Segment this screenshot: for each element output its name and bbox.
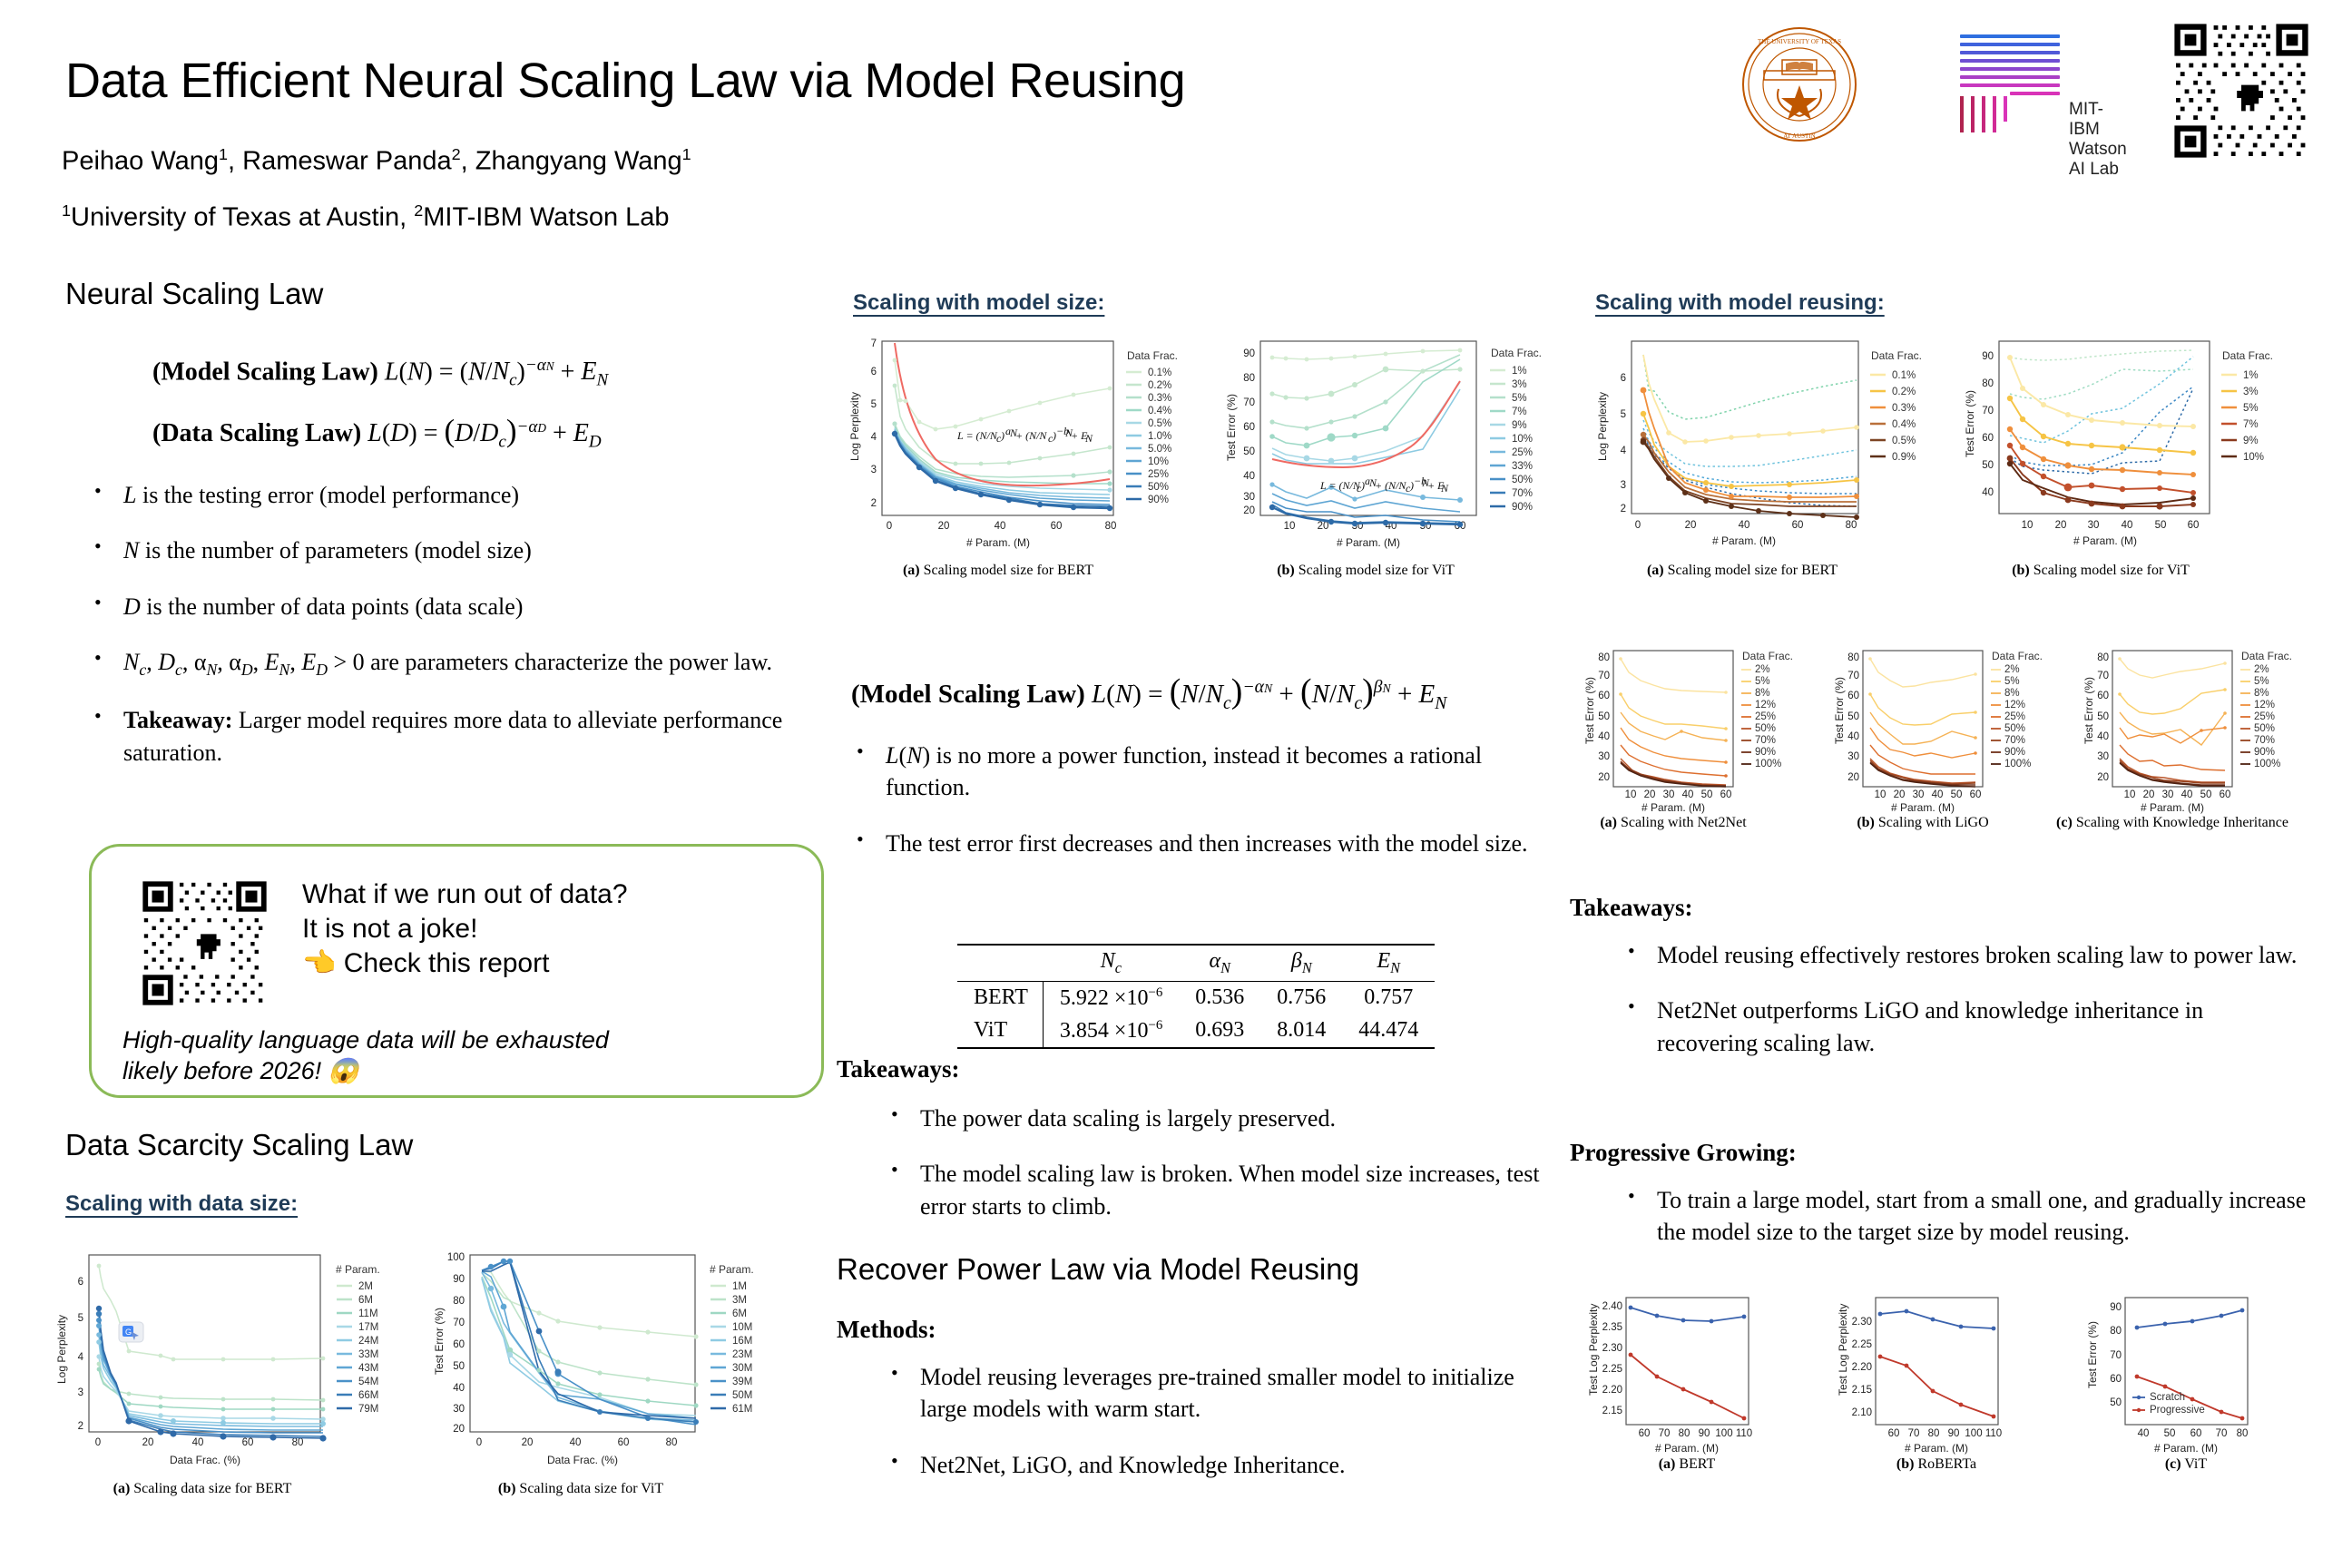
svg-text:50: 50 bbox=[453, 1361, 465, 1372]
table-cell: 3.854 ×10−6 bbox=[1043, 1014, 1179, 1048]
svg-text:8%: 8% bbox=[1755, 688, 1770, 699]
svg-text:Test Error (%): Test Error (%) bbox=[1833, 677, 1846, 744]
takeaway-label: Takeaway: bbox=[123, 707, 232, 733]
svg-text:# Param. (M): # Param. (M) bbox=[2154, 1442, 2218, 1455]
list-item: N is the number of parameters (model siz… bbox=[82, 534, 808, 566]
svg-text:30: 30 bbox=[1663, 789, 1675, 800]
middle-bullet-list: L(N) is no more a power function, instea… bbox=[844, 740, 1561, 883]
ut-austin-logo: THE UNIVERSITY OF TEXAS AT AUSTIN bbox=[1724, 25, 1875, 143]
callout-line-2: It is not a joke! bbox=[302, 912, 628, 946]
list-item: Net2Net, LiGO, and Knowledge Inheritance… bbox=[878, 1449, 1550, 1481]
svg-text:2.15: 2.15 bbox=[1852, 1385, 1872, 1396]
svg-text:12%: 12% bbox=[2254, 700, 2275, 710]
svg-text:60: 60 bbox=[2097, 691, 2109, 701]
svg-text:17M: 17M bbox=[358, 1322, 378, 1333]
svg-text:+ (N/N: + (N/N bbox=[1375, 479, 1406, 492]
svg-text:10: 10 bbox=[1625, 789, 1637, 800]
svg-text:Data Frac. (%): Data Frac. (%) bbox=[547, 1454, 618, 1466]
figure-caption: (a) Scaling data size for BERT bbox=[53, 1481, 352, 1497]
svg-text:(a) Scaling with Net2Net: (a) Scaling with Net2Net bbox=[1600, 815, 1747, 830]
svg-text:50%: 50% bbox=[2004, 723, 2025, 734]
svg-text:90%: 90% bbox=[1148, 495, 1169, 505]
mit-ibm-line3: AI Lab bbox=[2069, 160, 2132, 180]
svg-text:80: 80 bbox=[2237, 1428, 2249, 1439]
svg-text:50: 50 bbox=[1701, 789, 1713, 800]
svg-text:90: 90 bbox=[1982, 351, 1994, 362]
svg-text:3%: 3% bbox=[2243, 387, 2259, 397]
right-takeaways-list: Model reusing effectively restores broke… bbox=[1615, 939, 2305, 1083]
svg-text:G: G bbox=[125, 1328, 132, 1337]
svg-text:90: 90 bbox=[1948, 1428, 1960, 1439]
svg-text:# Param. (M): # Param. (M) bbox=[2141, 801, 2204, 814]
table-col-header: αN bbox=[1179, 945, 1260, 981]
list-item: Model reusing leverages pre-trained smal… bbox=[878, 1361, 1550, 1426]
svg-text:3: 3 bbox=[78, 1387, 83, 1398]
svg-text:80: 80 bbox=[1679, 1428, 1690, 1439]
svg-text:0.1%: 0.1% bbox=[1892, 370, 1916, 381]
svg-text:0: 0 bbox=[887, 521, 892, 532]
svg-text:50: 50 bbox=[2200, 789, 2212, 800]
figure-reuse-vit: Test Error (%) 9080 7060 5040 1020 3040 … bbox=[1955, 334, 2309, 579]
svg-text:50: 50 bbox=[2097, 711, 2109, 722]
svg-text:60: 60 bbox=[453, 1339, 465, 1350]
mit-ibm-vbars-icon bbox=[1960, 96, 2064, 134]
svg-text:70: 70 bbox=[2110, 1350, 2122, 1361]
svg-text:11M: 11M bbox=[358, 1308, 378, 1319]
svg-text:# Param. (M): # Param. (M) bbox=[1337, 536, 1400, 549]
svg-text:+ (N/N: + (N/N bbox=[1015, 429, 1047, 442]
svg-text:23M: 23M bbox=[732, 1349, 752, 1360]
selection-artifact: G bbox=[119, 1322, 143, 1342]
table-cell: ViT bbox=[957, 1014, 1043, 1048]
equation-data-scaling-law: (Data Scaling Law) L(D) = (D/Dc)−αD + ED bbox=[152, 413, 602, 453]
list-item: Nc, Dc, αN, αD, EN, ED > 0 are parameter… bbox=[82, 646, 808, 681]
svg-text:40: 40 bbox=[995, 521, 1006, 532]
svg-text:5%: 5% bbox=[2004, 676, 2020, 687]
progressive-growing-heading: Progressive Growing: bbox=[1570, 1139, 1797, 1167]
mit-ibm-label: MIT-IBM Watson AI Lab bbox=[2069, 100, 2132, 180]
svg-text:Data Frac. (%): Data Frac. (%) bbox=[170, 1454, 240, 1466]
svg-text:N: N bbox=[1440, 482, 1449, 495]
svg-text:70: 70 bbox=[453, 1318, 465, 1328]
svg-text:90%: 90% bbox=[1755, 747, 1776, 758]
svg-text:33%: 33% bbox=[1512, 461, 1533, 472]
svg-text:12%: 12% bbox=[1755, 700, 1776, 710]
table-cell: 8.014 bbox=[1260, 1014, 1342, 1048]
svg-text:30: 30 bbox=[2088, 520, 2100, 531]
svg-text:90: 90 bbox=[2110, 1302, 2122, 1313]
list-item: L(N) is no more a power function, instea… bbox=[844, 740, 1561, 804]
svg-text:2.15: 2.15 bbox=[1602, 1406, 1622, 1416]
section-recover-power-law: Recover Power Law via Model Reusing bbox=[837, 1252, 1359, 1287]
table-col-header: βN bbox=[1260, 945, 1342, 981]
svg-text:6M: 6M bbox=[732, 1308, 747, 1319]
svg-text:80: 80 bbox=[1598, 652, 1610, 663]
svg-text:5%: 5% bbox=[2243, 403, 2259, 414]
svg-text:40: 40 bbox=[570, 1437, 582, 1448]
svg-text:54M: 54M bbox=[358, 1377, 378, 1387]
figure-scaling-data-size-bert: Log Perplexity 65 43 2 020 4060 80 Data … bbox=[53, 1248, 416, 1497]
svg-text:(a) BERT: (a) BERT bbox=[1659, 1456, 1716, 1472]
svg-text:40: 40 bbox=[1682, 789, 1694, 800]
svg-text:33M: 33M bbox=[358, 1349, 378, 1360]
svg-text:100: 100 bbox=[1715, 1428, 1732, 1439]
svg-text:2.20: 2.20 bbox=[1602, 1385, 1622, 1396]
svg-text:30: 30 bbox=[2097, 751, 2109, 762]
svg-text:(c) Scaling with Knowledge Inh: (c) Scaling with Knowledge Inheritance bbox=[2056, 815, 2288, 830]
svg-text:20: 20 bbox=[453, 1424, 465, 1435]
svg-text:0.2%: 0.2% bbox=[1148, 380, 1171, 391]
svg-text:Data Frac.: Data Frac. bbox=[1127, 349, 1178, 362]
svg-text:80: 80 bbox=[1846, 520, 1857, 531]
svg-text:0: 0 bbox=[1635, 520, 1641, 531]
section-data-scarcity-scaling-law: Data Scarcity Scaling Law bbox=[65, 1128, 413, 1162]
svg-text:20: 20 bbox=[1318, 521, 1329, 532]
table-row: ViT 3.854 ×10−6 0.693 8.014 44.474 bbox=[957, 1014, 1435, 1048]
figure-caption: (a) Scaling model size for BERT bbox=[1588, 563, 1896, 579]
svg-text:24M: 24M bbox=[358, 1336, 378, 1347]
svg-text:90: 90 bbox=[453, 1274, 465, 1285]
svg-text:10%: 10% bbox=[1512, 434, 1533, 445]
svg-text:60: 60 bbox=[1970, 789, 1982, 800]
svg-text:20: 20 bbox=[2143, 789, 2155, 800]
svg-text:80: 80 bbox=[1982, 378, 1994, 389]
svg-text:61M: 61M bbox=[732, 1404, 752, 1415]
svg-text:# Param.: # Param. bbox=[336, 1263, 380, 1276]
svg-text:40: 40 bbox=[1982, 487, 1994, 498]
svg-text:80: 80 bbox=[453, 1296, 465, 1307]
progressive-growing-list: To train a large model, start from a sma… bbox=[1615, 1184, 2332, 1272]
svg-text:L = (N/N: L = (N/N bbox=[1319, 479, 1361, 492]
svg-text:90%: 90% bbox=[2004, 747, 2025, 758]
svg-text:6: 6 bbox=[78, 1277, 83, 1288]
table-col-header bbox=[957, 945, 1043, 981]
svg-text:4: 4 bbox=[1621, 446, 1627, 456]
svg-text:AT AUSTIN: AT AUSTIN bbox=[1783, 132, 1815, 140]
svg-text:2.25: 2.25 bbox=[1602, 1364, 1622, 1375]
svg-text:3M: 3M bbox=[732, 1295, 747, 1306]
svg-text:50: 50 bbox=[2155, 520, 2167, 531]
svg-text:1.0%: 1.0% bbox=[1148, 431, 1171, 442]
svg-text:40: 40 bbox=[1598, 731, 1610, 742]
svg-text:25%: 25% bbox=[2254, 711, 2275, 722]
svg-text:Data Frac.: Data Frac. bbox=[1871, 349, 1922, 362]
svg-text:Test Error (%): Test Error (%) bbox=[433, 1308, 446, 1375]
svg-text:20: 20 bbox=[1847, 772, 1859, 783]
svg-text:Test Error (%): Test Error (%) bbox=[1964, 390, 1976, 457]
svg-text:2.30: 2.30 bbox=[1852, 1317, 1872, 1328]
svg-text:2%: 2% bbox=[2004, 664, 2020, 675]
poster-canvas: Data Efficient Neural Scaling Law via Mo… bbox=[0, 0, 2352, 1568]
svg-text:4: 4 bbox=[78, 1352, 84, 1363]
svg-text:39M: 39M bbox=[732, 1377, 752, 1387]
svg-text:0: 0 bbox=[95, 1437, 101, 1448]
table-cell: 5.922 ×10−6 bbox=[1043, 981, 1179, 1014]
callout-line-3: 👈 Check this report bbox=[302, 946, 628, 981]
figure-caption: (a) Scaling model size for BERT bbox=[844, 563, 1152, 579]
svg-text:30: 30 bbox=[2162, 789, 2174, 800]
svg-text:60: 60 bbox=[2220, 789, 2231, 800]
list-item: Net2Net outperforms LiGO and knowledge i… bbox=[1615, 995, 2305, 1059]
figure-row-progressive-growing: Test Log Perplexity 2.402.35 2.302.25 2.… bbox=[1579, 1289, 2341, 1506]
svg-text:5: 5 bbox=[1621, 409, 1626, 420]
svg-text:100: 100 bbox=[447, 1252, 465, 1263]
table-cell: 0.756 bbox=[1260, 981, 1342, 1014]
svg-text:1%: 1% bbox=[1512, 366, 1527, 377]
svg-text:2: 2 bbox=[78, 1421, 83, 1432]
svg-text:2.40: 2.40 bbox=[1602, 1301, 1622, 1312]
table-cell: 44.474 bbox=[1342, 1014, 1435, 1048]
svg-text:0: 0 bbox=[476, 1437, 482, 1448]
svg-text:2.20: 2.20 bbox=[1852, 1362, 1872, 1373]
svg-text:10%: 10% bbox=[1148, 456, 1169, 467]
list-item: L is the testing error (model performanc… bbox=[82, 479, 808, 511]
svg-text:12%: 12% bbox=[2004, 700, 2025, 710]
svg-text:7: 7 bbox=[871, 338, 877, 349]
svg-text:3%: 3% bbox=[1512, 379, 1527, 390]
svg-text:100%: 100% bbox=[2004, 759, 2031, 769]
svg-text:0.5%: 0.5% bbox=[1148, 418, 1171, 429]
svg-text:# Param. (M): # Param. (M) bbox=[1905, 1442, 1968, 1455]
svg-text:3: 3 bbox=[1621, 480, 1626, 491]
svg-text:Progressive: Progressive bbox=[2150, 1405, 2205, 1416]
svg-text:2: 2 bbox=[871, 498, 877, 509]
svg-text:100%: 100% bbox=[1755, 759, 1781, 769]
svg-text:50: 50 bbox=[1243, 446, 1255, 457]
svg-text:9%: 9% bbox=[1512, 420, 1527, 431]
svg-text:7%: 7% bbox=[2243, 419, 2259, 430]
svg-text:0.4%: 0.4% bbox=[1892, 419, 1916, 430]
svg-text:60: 60 bbox=[1792, 520, 1804, 531]
svg-text:8%: 8% bbox=[2004, 688, 2020, 699]
svg-text:7%: 7% bbox=[1512, 407, 1527, 417]
equation-broken-model-scaling-law: (Model Scaling Law) L(N) = (N/Nc)−αN + (… bbox=[851, 671, 1446, 714]
svg-text:20: 20 bbox=[2055, 520, 2067, 531]
svg-text:Log Perplexity: Log Perplexity bbox=[1596, 392, 1609, 461]
svg-text:5%: 5% bbox=[1512, 393, 1527, 404]
figure-caption: (b) Scaling data size for ViT bbox=[426, 1481, 735, 1497]
svg-text:100%: 100% bbox=[2254, 759, 2280, 769]
svg-text:80: 80 bbox=[292, 1437, 304, 1448]
svg-text:2.35: 2.35 bbox=[1602, 1322, 1622, 1333]
svg-text:60: 60 bbox=[2110, 1374, 2122, 1385]
svg-text:30: 30 bbox=[1847, 751, 1859, 762]
svg-text:20: 20 bbox=[1685, 520, 1697, 531]
svg-text:# Param.: # Param. bbox=[710, 1263, 754, 1276]
svg-text:60: 60 bbox=[1639, 1428, 1651, 1439]
svg-text:20: 20 bbox=[2097, 772, 2109, 783]
svg-text:66M: 66M bbox=[358, 1390, 378, 1401]
svg-text:60: 60 bbox=[1982, 433, 1994, 444]
svg-text:50: 50 bbox=[1847, 711, 1859, 722]
svg-text:70: 70 bbox=[1908, 1428, 1920, 1439]
figure-scaling-model-size-vit: Test Error (%) 9080 7060 5040 3020 1020 … bbox=[1220, 334, 1574, 579]
header-qr-code-icon[interactable] bbox=[2160, 18, 2323, 163]
svg-text:(b) RoBERTa: (b) RoBERTa bbox=[1896, 1456, 1976, 1472]
svg-text:80: 80 bbox=[666, 1437, 678, 1448]
svg-text:50%: 50% bbox=[2254, 723, 2275, 734]
svg-text:79M: 79M bbox=[358, 1404, 378, 1415]
svg-text:Test Log Perplexity: Test Log Perplexity bbox=[1837, 1304, 1849, 1396]
mit-ibm-line1: MIT-IBM bbox=[2069, 100, 2132, 140]
figure-reuse-bert: Log Perplexity 65 43 2 020 4060 80 # Par… bbox=[1588, 334, 1951, 579]
svg-text:L = (N/N: L = (N/N bbox=[956, 429, 998, 442]
table-cell: BERT bbox=[957, 981, 1043, 1014]
svg-text:2%: 2% bbox=[1755, 664, 1770, 675]
table-cell: 0.757 bbox=[1342, 981, 1435, 1014]
svg-text:40: 40 bbox=[2138, 1428, 2150, 1439]
svg-text:2.10: 2.10 bbox=[1852, 1407, 1872, 1418]
svg-text:90: 90 bbox=[1699, 1428, 1710, 1439]
list-item: To train a large model, start from a sma… bbox=[1615, 1184, 2332, 1249]
svg-text:Data Frac.: Data Frac. bbox=[1491, 347, 1542, 359]
methods-list: Model reusing leverages pre-trained smal… bbox=[878, 1361, 1550, 1504]
legend-progressive: Scratch Progressive bbox=[2132, 1392, 2205, 1416]
svg-text:Test Log Perplexity: Test Log Perplexity bbox=[1587, 1304, 1600, 1396]
svg-text:9%: 9% bbox=[2243, 436, 2259, 446]
svg-text:50%: 50% bbox=[1755, 723, 1776, 734]
svg-text:1%: 1% bbox=[2243, 370, 2259, 381]
section-neural-scaling-law: Neural Scaling Law bbox=[65, 277, 323, 311]
svg-text:16M: 16M bbox=[732, 1336, 752, 1347]
svg-text:80: 80 bbox=[1847, 652, 1859, 663]
svg-text:80: 80 bbox=[2110, 1326, 2122, 1337]
svg-text:70: 70 bbox=[1982, 406, 1994, 416]
svg-text:Scratch: Scratch bbox=[2150, 1392, 2185, 1403]
middle-takeaways-list: The power data scaling is largely preser… bbox=[878, 1102, 1550, 1246]
svg-text:60: 60 bbox=[1847, 691, 1859, 701]
svg-text:20: 20 bbox=[1894, 789, 1906, 800]
svg-text:70%: 70% bbox=[2004, 735, 2025, 746]
svg-text:10: 10 bbox=[1875, 789, 1886, 800]
middle-takeaways-heading: Takeaways: bbox=[837, 1055, 960, 1083]
table-row: BERT 5.922 ×10−6 0.536 0.756 0.757 bbox=[957, 981, 1435, 1014]
svg-text:60: 60 bbox=[1598, 691, 1610, 701]
svg-text:20: 20 bbox=[1243, 505, 1255, 516]
svg-text:60: 60 bbox=[618, 1437, 630, 1448]
svg-text:(b) Scaling with LiGO: (b) Scaling with LiGO bbox=[1857, 815, 1988, 830]
table-cell: 0.536 bbox=[1179, 981, 1260, 1014]
svg-text:Log Perplexity: Log Perplexity bbox=[55, 1315, 68, 1384]
svg-text:50: 50 bbox=[1951, 789, 1963, 800]
svg-text:Data Frac.: Data Frac. bbox=[1742, 650, 1793, 662]
svg-text:Log Perplexity: Log Perplexity bbox=[848, 392, 861, 461]
svg-text:80: 80 bbox=[2097, 652, 2109, 663]
table-col-header: Nc bbox=[1043, 945, 1179, 981]
svg-text:# Param. (M): # Param. (M) bbox=[966, 536, 1030, 549]
fitted-parameters-table: Nc αN βN EN BERT 5.922 ×10−6 0.536 0.756… bbox=[957, 944, 1435, 1049]
svg-text:30: 30 bbox=[1913, 789, 1925, 800]
mit-ibm-logo: MIT-IBM Watson AI Lab bbox=[1960, 34, 2132, 148]
svg-text:30: 30 bbox=[1598, 751, 1610, 762]
svg-text:Test Error (%): Test Error (%) bbox=[2082, 677, 2095, 744]
svg-text:60: 60 bbox=[1720, 789, 1732, 800]
svg-text:# Param. (M): # Param. (M) bbox=[1712, 534, 1776, 547]
svg-text:4: 4 bbox=[871, 432, 877, 443]
svg-text:60: 60 bbox=[1888, 1428, 1900, 1439]
svg-text:5: 5 bbox=[78, 1313, 83, 1324]
svg-text:6M: 6M bbox=[358, 1295, 373, 1306]
svg-text:70%: 70% bbox=[2254, 735, 2275, 746]
svg-text:70: 70 bbox=[1659, 1428, 1671, 1439]
svg-text:50: 50 bbox=[1982, 460, 1994, 471]
svg-text:40: 40 bbox=[1739, 520, 1750, 531]
svg-text:30: 30 bbox=[453, 1404, 465, 1415]
svg-text:20: 20 bbox=[1598, 772, 1610, 783]
svg-text:# Param. (M): # Param. (M) bbox=[1641, 801, 1705, 814]
list-item: Model reusing effectively restores broke… bbox=[1615, 939, 2305, 971]
list-item: The test error first decreases and then … bbox=[844, 828, 1561, 859]
callout-line-1: What if we run out of data? bbox=[302, 877, 628, 912]
svg-text:0.9%: 0.9% bbox=[1892, 452, 1916, 463]
svg-text:70: 70 bbox=[2097, 671, 2109, 681]
svg-text:20: 20 bbox=[142, 1437, 154, 1448]
svg-text:6: 6 bbox=[1621, 373, 1626, 384]
svg-text:50: 50 bbox=[1598, 711, 1610, 722]
table-col-header: EN bbox=[1342, 945, 1435, 981]
svg-text:20: 20 bbox=[522, 1437, 534, 1448]
svg-text:40: 40 bbox=[192, 1437, 204, 1448]
mit-ibm-bars-icon bbox=[1960, 34, 2064, 93]
report-qr-code-icon[interactable] bbox=[139, 877, 270, 1009]
svg-text:30: 30 bbox=[1243, 492, 1255, 503]
list-item: The model scaling law is broken. When mo… bbox=[878, 1158, 1550, 1222]
svg-text:20: 20 bbox=[1644, 789, 1656, 800]
svg-text:100: 100 bbox=[1965, 1428, 1982, 1439]
svg-text:2.30: 2.30 bbox=[1602, 1343, 1622, 1354]
svg-text:90: 90 bbox=[1243, 348, 1255, 359]
figure-row-reuse-methods: Test Error (%) 8070 6050 4030 20 1020 30… bbox=[1579, 640, 2341, 835]
svg-text:40: 40 bbox=[1932, 789, 1944, 800]
author-list: Peihao Wang1, Rameswar Panda2, Zhangyang… bbox=[62, 145, 691, 177]
callout-text-block: What if we run out of data? It is not a … bbox=[302, 877, 628, 981]
svg-text:# Param. (M): # Param. (M) bbox=[2073, 534, 2137, 547]
svg-text:80: 80 bbox=[1243, 373, 1255, 384]
svg-text:110: 110 bbox=[1985, 1428, 2002, 1439]
svg-text:5: 5 bbox=[871, 399, 877, 410]
svg-text:0.3%: 0.3% bbox=[1892, 403, 1916, 414]
svg-text:40: 40 bbox=[1847, 731, 1859, 742]
svg-text:5.0%: 5.0% bbox=[1148, 444, 1171, 455]
svg-text:70: 70 bbox=[1847, 671, 1859, 681]
svg-text:0.1%: 0.1% bbox=[1148, 367, 1171, 378]
list-item: The power data scaling is largely preser… bbox=[878, 1102, 1550, 1134]
svg-text:6: 6 bbox=[871, 367, 877, 377]
svg-text:70%: 70% bbox=[1512, 488, 1533, 499]
svg-text:Test Error (%): Test Error (%) bbox=[1583, 677, 1596, 744]
svg-text:3: 3 bbox=[871, 465, 877, 475]
table-cell: 0.693 bbox=[1179, 1014, 1260, 1048]
svg-text:50: 50 bbox=[2110, 1397, 2122, 1408]
svg-text:50%: 50% bbox=[1512, 475, 1533, 485]
list-item: Takeaway: Larger model requires more dat… bbox=[82, 704, 808, 769]
mit-ibm-line2: Watson bbox=[2069, 140, 2132, 160]
svg-text:5%: 5% bbox=[1755, 676, 1770, 687]
svg-text:25%: 25% bbox=[1755, 711, 1776, 722]
svg-text:60: 60 bbox=[1243, 422, 1255, 433]
svg-text:): ) bbox=[1000, 429, 1004, 442]
svg-text:0.2%: 0.2% bbox=[1892, 387, 1916, 397]
svg-text:Data Frac.: Data Frac. bbox=[2241, 650, 2292, 662]
svg-text:1M: 1M bbox=[732, 1281, 747, 1292]
svg-text:50M: 50M bbox=[732, 1390, 752, 1401]
svg-text:25%: 25% bbox=[2004, 711, 2025, 722]
svg-text:2.25: 2.25 bbox=[1852, 1339, 1872, 1350]
svg-text:20: 20 bbox=[938, 521, 950, 532]
svg-text:10M: 10M bbox=[732, 1322, 752, 1333]
svg-text:8%: 8% bbox=[2254, 688, 2269, 699]
svg-text:43M: 43M bbox=[358, 1363, 378, 1374]
